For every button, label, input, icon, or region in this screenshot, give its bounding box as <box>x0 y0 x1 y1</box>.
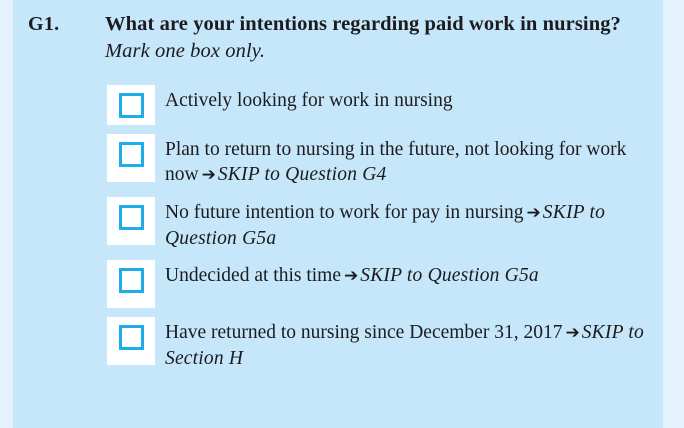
option-text: Actively looking for work in nursing <box>165 90 453 111</box>
option-text: Have returned to nursing since December … <box>165 322 562 343</box>
question-main-text: What are your intentions regarding paid … <box>105 13 621 35</box>
arrow-right-icon: ➔ <box>341 266 360 286</box>
option-row-plan-to-return[interactable]: Plan to return to nursing in the future,… <box>0 134 684 188</box>
option-row-actively-looking[interactable]: Actively looking for work in nursing <box>0 85 684 125</box>
option-text: Undecided at this time <box>165 265 341 286</box>
option-label: Undecided at this time➔SKIP to Question … <box>165 260 684 289</box>
checkbox-icon[interactable] <box>119 142 144 167</box>
options-list: Actively looking for work in nursing Pla… <box>0 85 684 380</box>
checkbox-icon[interactable] <box>119 268 144 293</box>
option-label: Actively looking for work in nursing <box>165 85 684 114</box>
option-row-no-future-intention[interactable]: No future intention to work for pay in n… <box>0 197 684 251</box>
question-number: G1. <box>0 11 105 38</box>
question-text-block: What are your intentions regarding paid … <box>105 11 684 65</box>
checkbox-icon[interactable] <box>119 325 144 350</box>
checkbox-icon[interactable] <box>119 205 144 230</box>
arrow-right-icon: ➔ <box>562 323 581 343</box>
arrow-right-icon <box>453 91 458 111</box>
option-text: No future intention to work for pay in n… <box>165 202 524 223</box>
option-label: No future intention to work for pay in n… <box>165 197 684 251</box>
checkbox-tile[interactable] <box>107 85 155 125</box>
arrow-right-icon: ➔ <box>524 203 543 223</box>
option-skip-instruction: SKIP to Question G5a <box>360 265 539 286</box>
questionnaire-page: G1. What are your intentions regarding p… <box>0 0 684 428</box>
question-instruction: Mark one box only. <box>105 40 265 62</box>
option-label: Plan to return to nursing in the future,… <box>165 134 684 188</box>
option-skip-instruction: SKIP to Question G4 <box>218 164 387 185</box>
checkbox-icon[interactable] <box>119 93 144 118</box>
checkbox-tile[interactable] <box>107 260 155 308</box>
option-row-undecided[interactable]: Undecided at this time➔SKIP to Question … <box>0 260 684 308</box>
question-header: G1. What are your intentions regarding p… <box>0 11 684 65</box>
checkbox-tile[interactable] <box>107 317 155 365</box>
checkbox-tile[interactable] <box>107 134 155 182</box>
checkbox-tile[interactable] <box>107 197 155 245</box>
option-row-have-returned[interactable]: Have returned to nursing since December … <box>0 317 684 371</box>
arrow-right-icon: ➔ <box>199 165 218 185</box>
option-label: Have returned to nursing since December … <box>165 317 684 371</box>
